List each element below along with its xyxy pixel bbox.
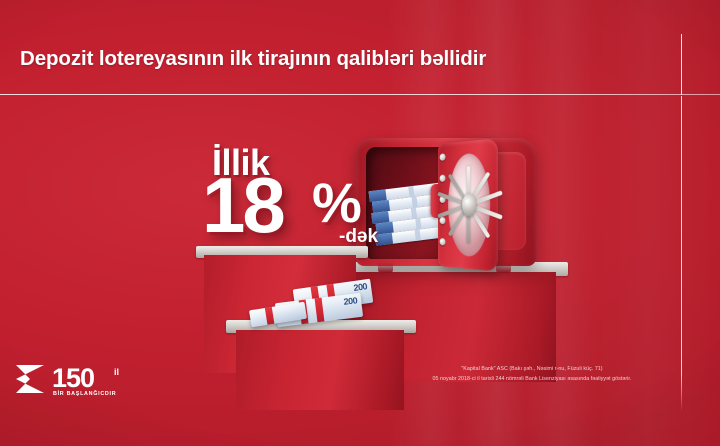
cash-band	[315, 298, 325, 323]
pedestal-front	[236, 330, 404, 410]
bank-logo: 150 il BİR BAŞLANĞICDIR	[16, 363, 136, 399]
legal-line-1: "Kapital Bank" ASC (Bakı şəh., Nəsimi r-…	[396, 365, 668, 375]
rate-value: 18	[202, 166, 283, 244]
legal-disclaimer: "Kapital Bank" ASC (Bakı şəh., Nəsimi r-…	[396, 365, 668, 385]
rate-lockup: İllik 18 % -dək	[196, 142, 396, 254]
safe-door	[438, 138, 498, 272]
promo-banner: Depozit lotereyasının ilk tirajının qali…	[0, 0, 720, 446]
legal-line-2: 05 noyabr 2018-ci il tarixli 244 nömrəli…	[396, 375, 668, 385]
safe-bolt	[440, 238, 446, 245]
banknote-denomination: 200	[353, 281, 368, 293]
logo-superscript: il	[114, 367, 119, 377]
safe-bolt	[440, 217, 446, 224]
percent-sign: %	[312, 175, 362, 231]
kapital-bank-x-icon	[16, 365, 44, 393]
safe-bolt	[440, 153, 446, 161]
safe-foot	[378, 262, 393, 273]
cash-bundles: 200 200	[246, 282, 376, 334]
logo-anniversary-number: 150	[52, 363, 94, 394]
vault-wheel-hub	[462, 193, 476, 216]
logo-tagline: BİR BAŞLANĞICDIR	[53, 391, 116, 397]
banknote-denomination: 200	[343, 295, 358, 307]
rate-suffix: -dək	[339, 226, 378, 248]
safe-dial-plate	[448, 152, 490, 258]
cash-band	[265, 307, 275, 325]
safe-foot	[496, 262, 511, 273]
safe-bolt	[440, 175, 446, 182]
